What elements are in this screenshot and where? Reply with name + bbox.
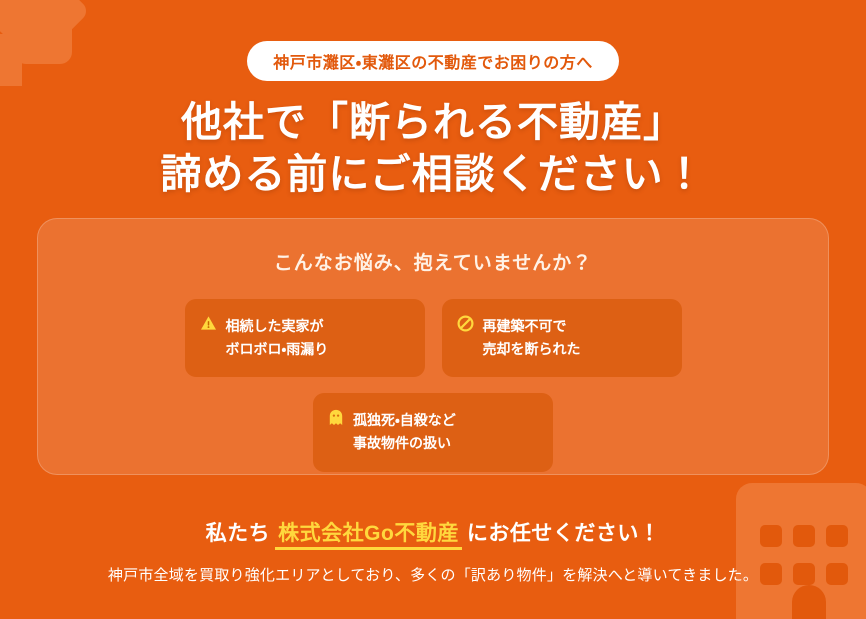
concern-card: 相続した実家が ボロボロ・雨漏り — [185, 299, 425, 377]
headline-line-2: 諦める前にご相談ください！ — [0, 148, 866, 200]
hero-section: 神戸市灘区・東灘区の不動産でお困りの方へ 他社で「断られる不動産」 諦める前にご… — [0, 0, 866, 619]
closing-suffix: にお任せください！ — [467, 522, 661, 545]
concerns-panel-title: こんなお悩み、抱えていませんか？ — [38, 248, 828, 275]
building-door — [792, 585, 826, 619]
concern-card-text: 孤独死・自殺など 事故物件の扱い — [353, 409, 456, 454]
ghost-icon — [328, 409, 344, 426]
concern-card-text: 再建築不可で 売却を断られた — [483, 315, 581, 360]
prohibited-icon — [457, 315, 474, 332]
hero-headline: 他社で「断られる不動産」 諦める前にご相談ください！ — [0, 96, 866, 201]
concerns-panel: こんなお悩み、抱えていませんか？ 相続した実家が ボロボロ・雨漏り — [37, 218, 829, 475]
concern-card: 孤独死・自殺など 事故物件の扱い — [313, 393, 553, 471]
warning-triangle-icon — [200, 315, 217, 331]
closing-block: 私たち株式会社Go不動産にお任せください！ 神戸市全域を買取り強化エリアとしてお… — [0, 517, 866, 585]
concern-card: 再建築不可で 売却を断られた — [442, 299, 682, 377]
concerns-card-grid: 相続した実家が ボロボロ・雨漏り 再建築不可で 売却を断られた — [38, 299, 828, 472]
headline-line-1: 他社で「断られる不動産」 — [181, 99, 685, 145]
badge-row: 神戸市灘区・東灘区の不動産でお困りの方へ — [0, 41, 866, 81]
company-name: 株式会社Go不動産 — [275, 522, 462, 550]
target-audience-badge: 神戸市灘区・東灘区の不動産でお困りの方へ — [247, 41, 618, 81]
concern-card-text: 相続した実家が ボロボロ・雨漏り — [226, 315, 329, 360]
closing-prefix: 私たち — [206, 522, 271, 545]
closing-description: 神戸市全域を買取り強化エリアとしており、多くの「訳あり物件」を解決へと導いてきま… — [0, 564, 866, 585]
closing-headline: 私たち株式会社Go不動産にお任せください！ — [0, 517, 866, 547]
